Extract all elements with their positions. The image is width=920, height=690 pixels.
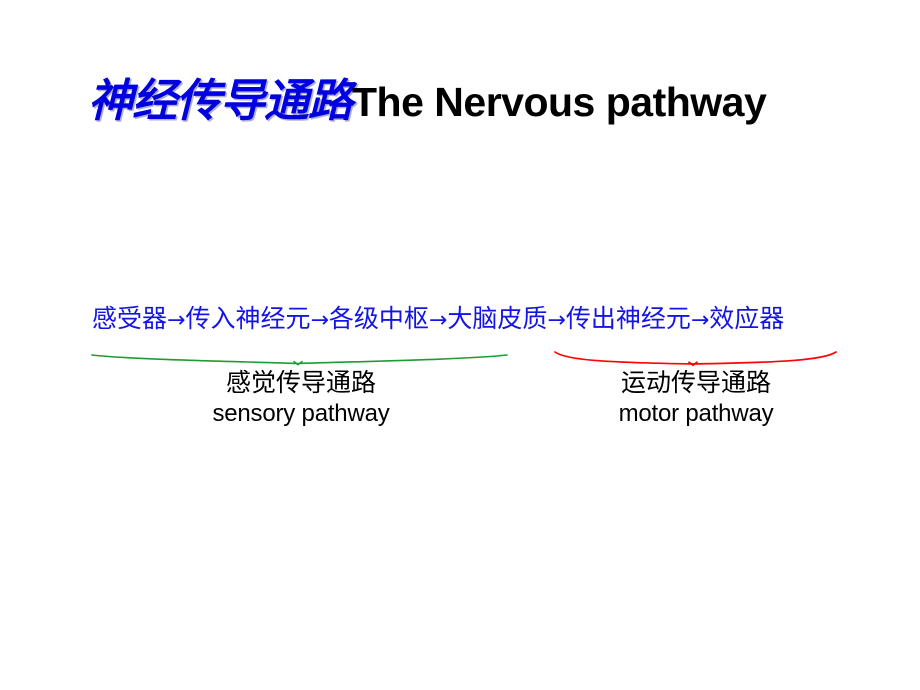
arrow-icon-5: →: [691, 308, 709, 333]
title-english: The Nervous pathway: [352, 79, 766, 125]
motor-brace-icon: [552, 346, 840, 366]
motor-label-english: motor pathway: [554, 398, 838, 429]
motor-brace-path: [555, 352, 836, 364]
arrow-icon-1: →: [167, 308, 185, 333]
slide-canvas: 神经传导通路The Nervous pathway 感受器→传入神经元→各级中枢…: [0, 0, 920, 690]
arrow-icon-2: →: [310, 308, 328, 333]
title-chinese: 神经传导通路: [88, 74, 352, 127]
page-title: 神经传导通路The Nervous pathway: [88, 78, 766, 123]
chain-node-efferent-neuron: 传出神经元: [566, 304, 691, 333]
pathway-chain: 感受器→传入神经元→各级中枢→大脑皮质→传出神经元→效应器: [92, 303, 784, 337]
sensory-label-chinese: 感觉传导通路: [95, 368, 507, 398]
arrow-icon-3: →: [429, 308, 447, 333]
chain-node-centers: 各级中枢: [329, 304, 429, 333]
sensory-brace-path: [92, 355, 507, 364]
motor-label-chinese: 运动传导通路: [554, 368, 838, 398]
chain-node-effector: 效应器: [709, 304, 784, 333]
arrow-icon-4: →: [547, 308, 565, 333]
sensory-label-english: sensory pathway: [95, 398, 507, 429]
chain-node-receptor: 感受器: [92, 304, 167, 333]
sensory-pathway-label: 感觉传导通路 sensory pathway: [95, 368, 507, 429]
chain-node-cerebral-cortex: 大脑皮质: [447, 304, 547, 333]
motor-pathway-label: 运动传导通路 motor pathway: [554, 368, 838, 429]
chain-node-afferent-neuron: 传入神经元: [185, 304, 310, 333]
sensory-brace-icon: [90, 346, 510, 366]
